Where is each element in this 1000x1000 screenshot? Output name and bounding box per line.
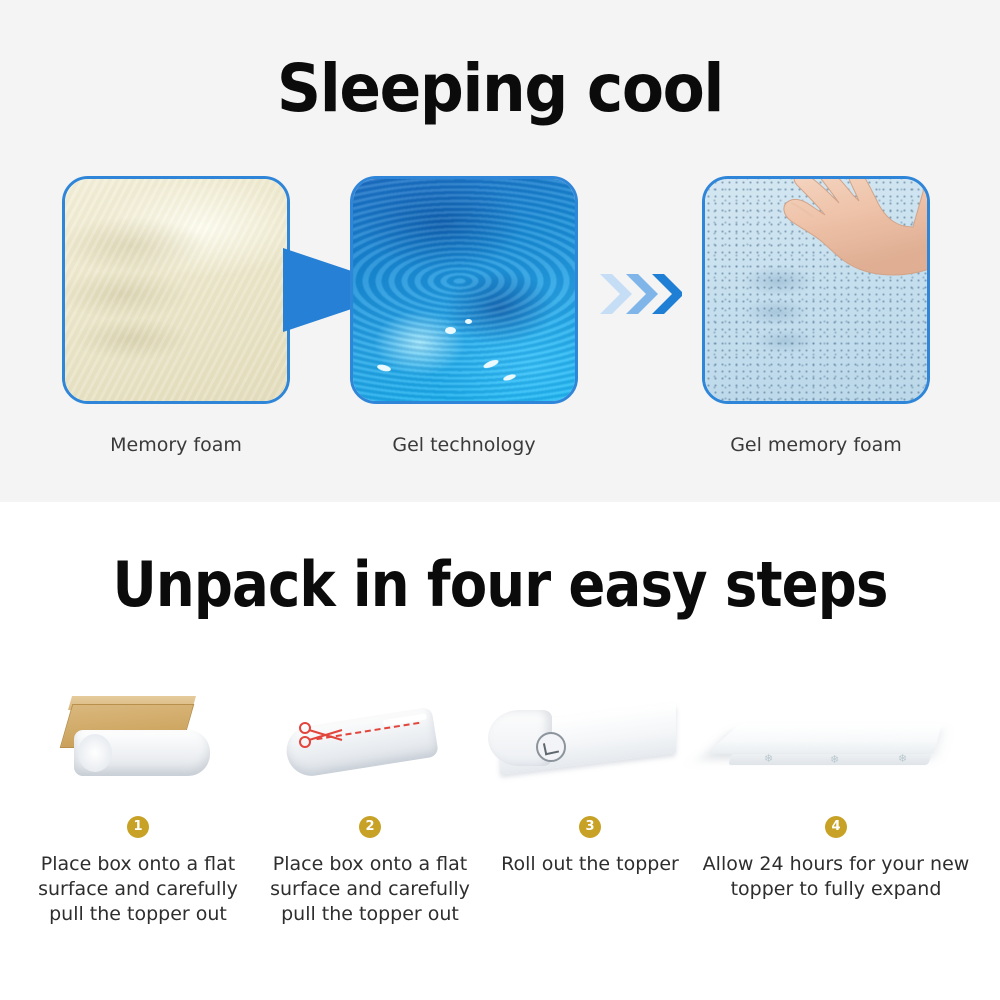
sleeping-cool-title: Sleeping cool bbox=[35, 52, 965, 126]
wrapped-roll-icon bbox=[74, 730, 210, 776]
topper-top-surface-icon bbox=[707, 724, 942, 754]
caption-gel-technology: Gel technology bbox=[350, 434, 578, 456]
leaf-pattern-icon: ❄ bbox=[898, 752, 907, 765]
panel-gel-memory-foam bbox=[702, 176, 930, 404]
unpack-steps-section: Unpack in four easy steps 1 Place box on… bbox=[0, 502, 1000, 1000]
leaf-pattern-icon: ❄ bbox=[830, 753, 839, 766]
unrolling-topper-icon bbox=[482, 692, 698, 802]
panel-gel-technology bbox=[350, 176, 578, 404]
memory-foam-texture-icon bbox=[65, 179, 287, 401]
gel-highlight-icon bbox=[445, 327, 456, 334]
flat-expanded-topper-icon: ❄ ❄ ❄ bbox=[690, 692, 982, 802]
bowtie-connector-icon bbox=[283, 248, 353, 332]
step-caption-2: Place box onto a flat surface and carefu… bbox=[250, 852, 490, 927]
step-caption-3: Roll out the topper bbox=[482, 852, 698, 877]
step-item: 2 Place box onto a flat surface and care… bbox=[250, 692, 490, 927]
step-caption-1: Place box onto a flat surface and carefu… bbox=[18, 852, 258, 927]
box-with-rolled-topper-icon bbox=[18, 692, 258, 802]
caption-memory-foam: Memory foam bbox=[62, 434, 290, 456]
gel-highlight-icon bbox=[465, 319, 472, 324]
step-badge-2: 2 bbox=[359, 816, 381, 838]
step-badge-4: 4 bbox=[825, 816, 847, 838]
caption-gel-memory-foam: Gel memory foam bbox=[702, 434, 930, 456]
unpack-steps-title: Unpack in four easy steps bbox=[60, 550, 940, 620]
step-item: ❄ ❄ ❄ 4 Allow 24 hours for your new topp… bbox=[690, 692, 982, 902]
step-badge-3: 3 bbox=[579, 816, 601, 838]
hand-icon bbox=[747, 176, 930, 315]
triple-chevron-right-icon bbox=[598, 268, 682, 320]
step-item: 1 Place box onto a flat surface and care… bbox=[18, 692, 258, 927]
sleeping-cool-section: Sleeping cool bbox=[0, 0, 1000, 502]
step-item: 3 Roll out the topper bbox=[482, 692, 698, 877]
scissors-icon bbox=[298, 720, 346, 750]
panel-memory-foam bbox=[62, 176, 290, 404]
roll-direction-arrow-icon bbox=[536, 732, 566, 762]
leaf-pattern-icon: ❄ bbox=[764, 752, 773, 765]
step-caption-4: Allow 24 hours for your new topper to fu… bbox=[690, 852, 982, 902]
scissors-cutting-plastic-wrap-icon bbox=[250, 692, 490, 802]
step-badge-1: 1 bbox=[127, 816, 149, 838]
